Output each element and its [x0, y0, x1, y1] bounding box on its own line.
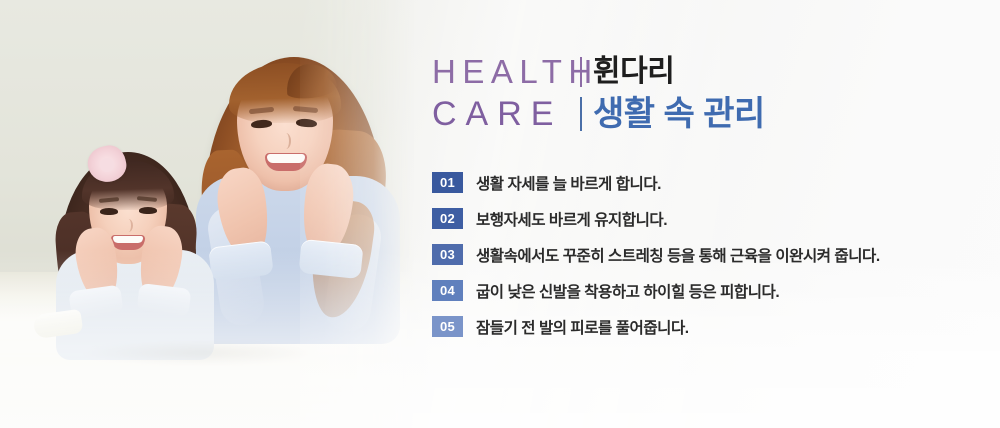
photo-ground-shadow [36, 336, 366, 370]
mother-cuff-right [298, 239, 363, 279]
care-item-number-badge: 02 [432, 208, 463, 229]
banner-title-block: HEALTH 휜다리 CARE 생활 속 관리 [432, 52, 765, 134]
care-item-number-badge: 04 [432, 280, 463, 301]
mother-mouth [265, 153, 307, 171]
care-item-text: 생활속에서도 꾸준히 스트레칭 등을 통해 근육을 이완시켜 줍니다. [476, 244, 880, 266]
title-row-top: HEALTH 휜다리 [432, 52, 765, 92]
daughter-nose [124, 219, 133, 232]
care-item-text: 잠들기 전 발의 피로를 풀어줍니다. [476, 316, 689, 338]
care-item-number-badge: 03 [432, 244, 463, 265]
care-list-item: 03생활속에서도 꾸준히 스트레칭 등을 통해 근육을 이완시켜 줍니다. [432, 244, 972, 265]
care-item-number-badge: 01 [432, 172, 463, 193]
care-list-item: 01생활 자세를 늘 바르게 합니다. [432, 172, 972, 193]
daughter-eye-left [100, 208, 118, 215]
mother-nose [281, 133, 291, 149]
mother-daughter-photo [0, 0, 415, 428]
title-care-text: CARE [432, 94, 580, 134]
care-list-item: 05잠들기 전 발의 피로를 풀어줍니다. [432, 316, 972, 337]
care-list-item: 02보행자세도 바르게 유지합니다. [432, 208, 972, 229]
daughter-hair-bow-knot [100, 158, 114, 172]
title-row-bottom: CARE 생활 속 관리 [432, 94, 765, 134]
title-divider-bottom [580, 97, 582, 131]
daughter-eye-right [139, 207, 157, 214]
daughter-teeth [113, 236, 143, 243]
daughter-mouth [111, 235, 145, 250]
title-korean-top: 휜다리 [593, 54, 674, 90]
mother-teeth [267, 154, 305, 163]
care-tips-list: 01생활 자세를 늘 바르게 합니다.02보행자세도 바르게 유지합니다.03생… [432, 172, 972, 352]
title-divider-top [580, 57, 582, 87]
care-item-number-badge: 05 [432, 316, 463, 337]
title-korean-bottom: 생활 속 관리 [593, 94, 765, 134]
care-item-text: 보행자세도 바르게 유지합니다. [476, 208, 667, 230]
care-item-text: 굽이 낮은 신발을 착용하고 하이힐 등은 피합니다. [476, 280, 779, 302]
care-list-item: 04굽이 낮은 신발을 착용하고 하이힐 등은 피합니다. [432, 280, 972, 301]
care-item-text: 생활 자세를 늘 바르게 합니다. [476, 172, 661, 194]
healthcare-banner: HEALTH 휜다리 CARE 생활 속 관리 01생활 자세를 늘 바르게 합… [0, 0, 1000, 428]
title-health-text: HEALTH [432, 52, 580, 92]
